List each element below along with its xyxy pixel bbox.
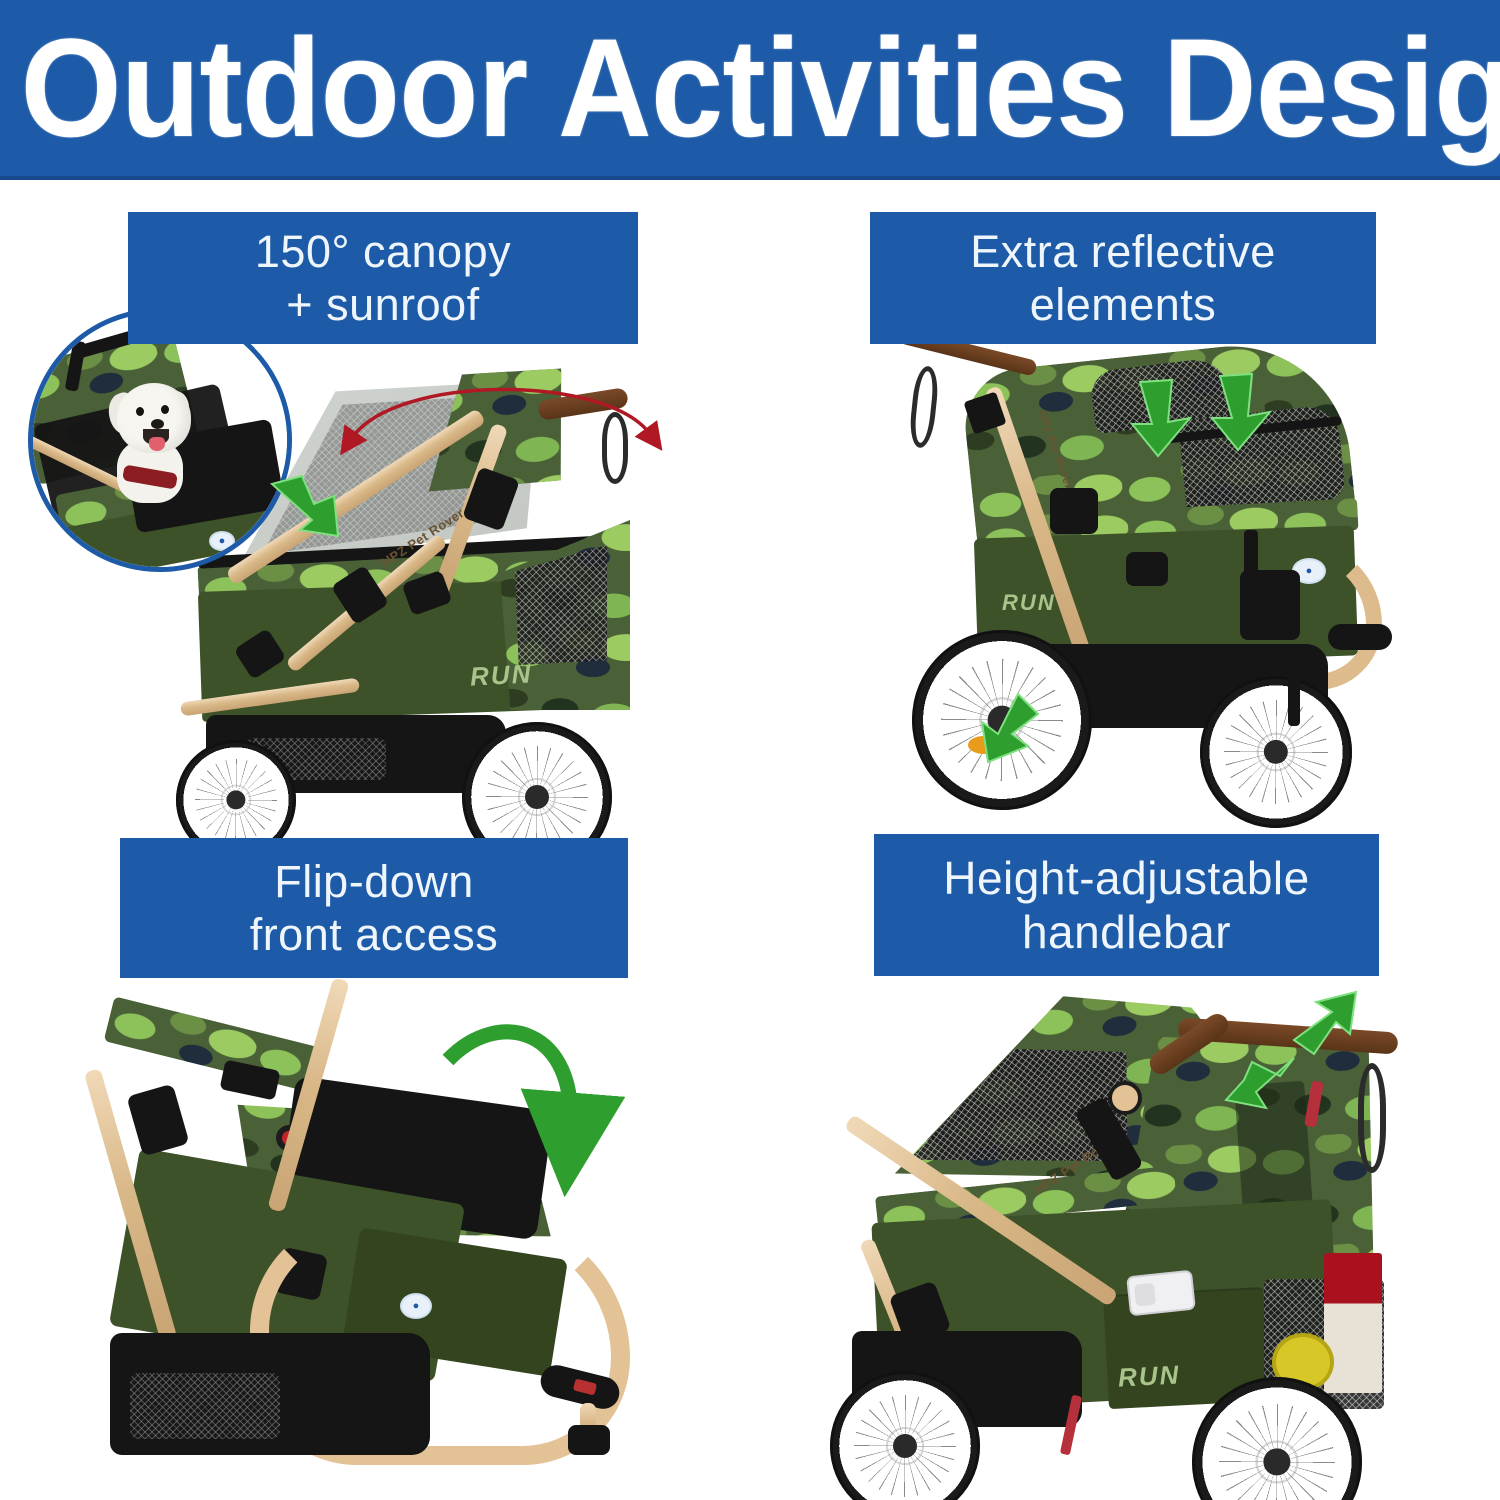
wheel-front bbox=[1200, 676, 1352, 828]
dog-photo-subject bbox=[103, 377, 223, 527]
caption-height-adjustable-handlebar: Height-adjustable handlebar bbox=[874, 834, 1379, 976]
caption-line-1: Height-adjustable bbox=[943, 851, 1310, 905]
caption-line-2: elements bbox=[1030, 278, 1217, 331]
inset-scene: ● bbox=[33, 313, 287, 567]
wheel-hub bbox=[988, 706, 1017, 735]
model-text-run: RUN bbox=[1117, 1359, 1181, 1393]
wheel-hub bbox=[525, 785, 549, 809]
dog-eye-left bbox=[136, 407, 144, 416]
dog-tongue bbox=[149, 437, 165, 451]
page-title: Outdoor Activities Designs bbox=[0, 13, 1500, 163]
caption-line-2: front access bbox=[250, 908, 499, 961]
dog-nose bbox=[151, 419, 164, 429]
caption-line-1: Extra reflective bbox=[970, 225, 1276, 278]
frame-joint-upper bbox=[126, 1084, 189, 1157]
caption-line-1: Flip-down bbox=[274, 855, 474, 908]
wrist-strap bbox=[602, 412, 628, 484]
wheel-rear-large bbox=[912, 630, 1092, 810]
caption-line-1: 150° canopy bbox=[255, 225, 511, 278]
frame-clamp-mid bbox=[1050, 488, 1098, 534]
caption-flip-down-front-access: Flip-down front access bbox=[120, 838, 628, 978]
model-text-run: RUN bbox=[1002, 590, 1056, 616]
under-basket-mesh bbox=[130, 1373, 280, 1439]
wrist-strap bbox=[908, 365, 940, 449]
product-photo-flip-down-access: ● bbox=[100, 985, 680, 1455]
front-bar-end-cap bbox=[1328, 624, 1392, 650]
front-fork bbox=[1288, 646, 1300, 726]
caption-canopy-sunroof: 150° canopy + sunroof bbox=[128, 212, 638, 344]
magazine-in-mesh-pocket bbox=[1324, 1253, 1382, 1393]
model-text-run: RUN bbox=[469, 658, 533, 692]
front-seat-pad bbox=[1240, 570, 1300, 640]
product-photo-height-adjustable-handlebar: RUN HPZ Pet Rover bbox=[860, 985, 1460, 1455]
inset-dog-in-stroller: ● bbox=[28, 308, 292, 572]
inset-logo-badge: ● bbox=[209, 531, 235, 551]
clamp-knob bbox=[1108, 1081, 1142, 1115]
wheel-hub bbox=[893, 1434, 917, 1458]
caption-reflective-elements: Extra reflective elements bbox=[870, 212, 1376, 344]
caption-line-2: handlebar bbox=[1022, 905, 1231, 959]
product-photo-reflective-elements: RUN ● HPZ Pet Rover bbox=[892, 340, 1492, 820]
smartphone-in-pocket bbox=[1126, 1270, 1196, 1317]
header-banner: Outdoor Activities Designs bbox=[0, 0, 1500, 180]
phone-camera-module bbox=[1134, 1283, 1156, 1307]
camo-canopy-edge bbox=[104, 996, 319, 1091]
front-wheel-collar bbox=[568, 1425, 610, 1455]
dog-eye-right bbox=[161, 405, 169, 414]
handlebar-wrist-strap bbox=[1358, 1063, 1386, 1173]
frame-clamp-lower bbox=[1126, 552, 1168, 586]
caption-line-2: + sunroof bbox=[286, 278, 479, 331]
reflector-amber-rear bbox=[968, 736, 1000, 754]
infographic-page: Outdoor Activities Designs RUN HPZ Pet R… bbox=[0, 0, 1500, 1500]
